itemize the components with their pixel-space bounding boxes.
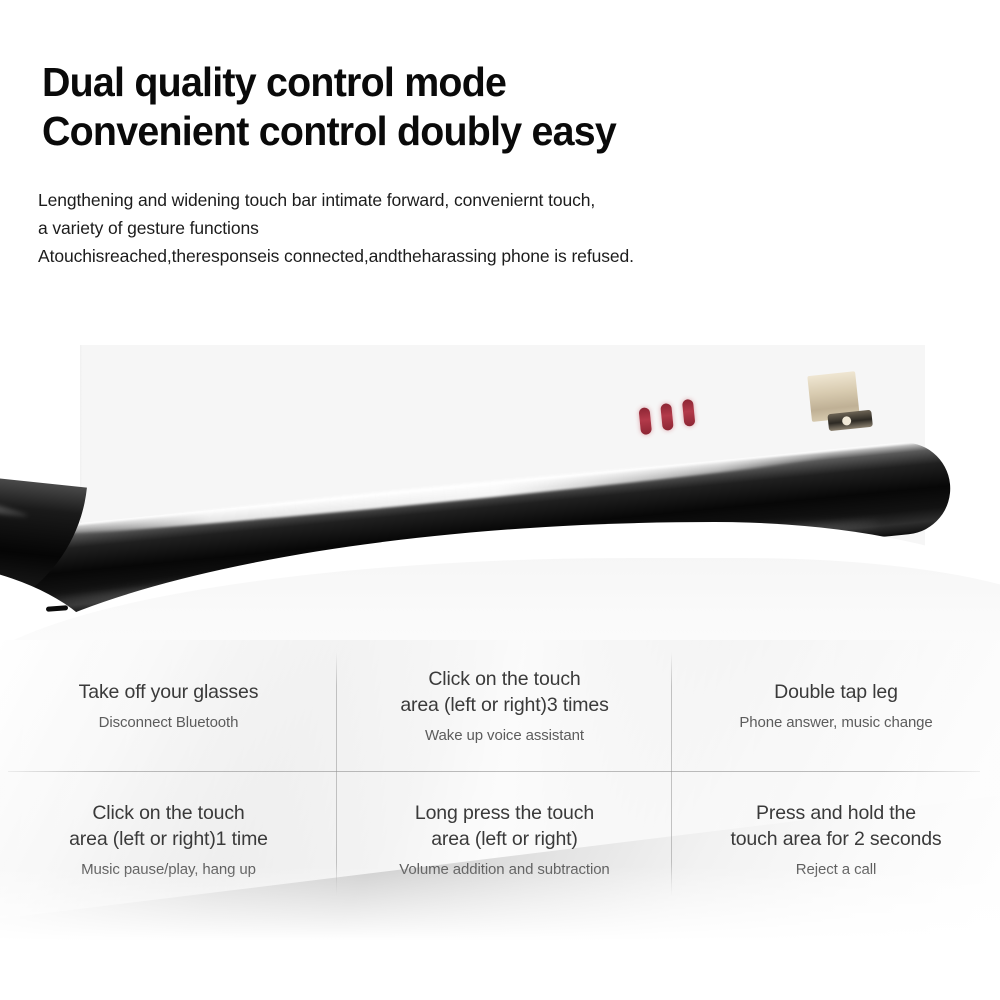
led-indicator-icon bbox=[660, 403, 674, 431]
description-block: Lengthening and widening touch bar intim… bbox=[38, 186, 938, 270]
led-indicator-group bbox=[638, 402, 705, 442]
product-feature-page: Dual quality control mode Convenient con… bbox=[0, 0, 1000, 1000]
grid-divider-horizontal bbox=[8, 771, 980, 772]
headline-line-1: Dual quality control mode bbox=[42, 58, 887, 107]
gesture-title-line-1: Click on the touch bbox=[400, 666, 608, 692]
gesture-cell-press-hold-2s: Press and hold the touch area for 2 seco… bbox=[672, 772, 1000, 908]
gesture-title-line-1: Press and hold the bbox=[730, 800, 941, 826]
gesture-title: Long press the touch area (left or right… bbox=[415, 800, 594, 852]
gesture-cell-take-off-glasses: Take off your glasses Disconnect Bluetoo… bbox=[0, 640, 337, 772]
gesture-subtitle: Disconnect Bluetooth bbox=[99, 713, 239, 733]
description-line-1: Lengthening and widening touch bar intim… bbox=[38, 186, 938, 214]
gesture-title-line-2: area (left or right)1 time bbox=[69, 826, 268, 852]
page-title: Dual quality control mode Convenient con… bbox=[42, 58, 922, 156]
product-photo bbox=[0, 290, 1000, 690]
gesture-title-line-1: Click on the touch bbox=[69, 800, 268, 826]
gesture-cell-triple-tap: Click on the touch area (left or right)3… bbox=[337, 640, 672, 772]
gesture-title: Press and hold the touch area for 2 seco… bbox=[730, 800, 941, 852]
gesture-title-line-2: touch area for 2 seconds bbox=[730, 826, 941, 852]
gesture-title-line-2: area (left or right) bbox=[415, 826, 594, 852]
gesture-title-line-2: area (left or right)3 times bbox=[400, 692, 608, 718]
description-line-2: a variety of gesture functions bbox=[38, 214, 938, 242]
gesture-subtitle: Reject a call bbox=[796, 860, 876, 880]
gesture-subtitle: Music pause/play, hang up bbox=[81, 860, 256, 880]
gesture-title: Double tap leg bbox=[774, 679, 898, 705]
gesture-title: Click on the touch area (left or right)1… bbox=[69, 800, 268, 852]
gesture-cell-single-tap: Click on the touch area (left or right)1… bbox=[0, 772, 337, 908]
gesture-grid-cells: Take off your glasses Disconnect Bluetoo… bbox=[0, 640, 1000, 908]
gesture-cell-double-tap-leg: Double tap leg Phone answer, music chang… bbox=[672, 640, 1000, 772]
gesture-cell-long-press: Long press the touch area (left or right… bbox=[337, 772, 672, 908]
led-indicator-icon bbox=[638, 407, 652, 435]
hinge-connector bbox=[807, 368, 890, 432]
gesture-title: Click on the touch area (left or right)3… bbox=[400, 666, 608, 718]
gesture-title-line-1: Long press the touch bbox=[415, 800, 594, 826]
grid-divider-vertical bbox=[336, 652, 337, 896]
led-indicator-icon bbox=[682, 399, 696, 427]
headline-line-2: Convenient control doubly easy bbox=[42, 107, 887, 156]
gesture-subtitle: Phone answer, music change bbox=[739, 713, 932, 733]
gesture-grid: Take off your glasses Disconnect Bluetoo… bbox=[0, 640, 1000, 962]
grid-divider-vertical bbox=[671, 652, 672, 896]
gesture-subtitle: Wake up voice assistant bbox=[425, 726, 584, 746]
gesture-title: Take off your glasses bbox=[79, 679, 259, 705]
description-line-3: Atouchisreached,theresponseis connected,… bbox=[38, 242, 938, 270]
gesture-subtitle: Volume addition and subtraction bbox=[399, 860, 609, 880]
